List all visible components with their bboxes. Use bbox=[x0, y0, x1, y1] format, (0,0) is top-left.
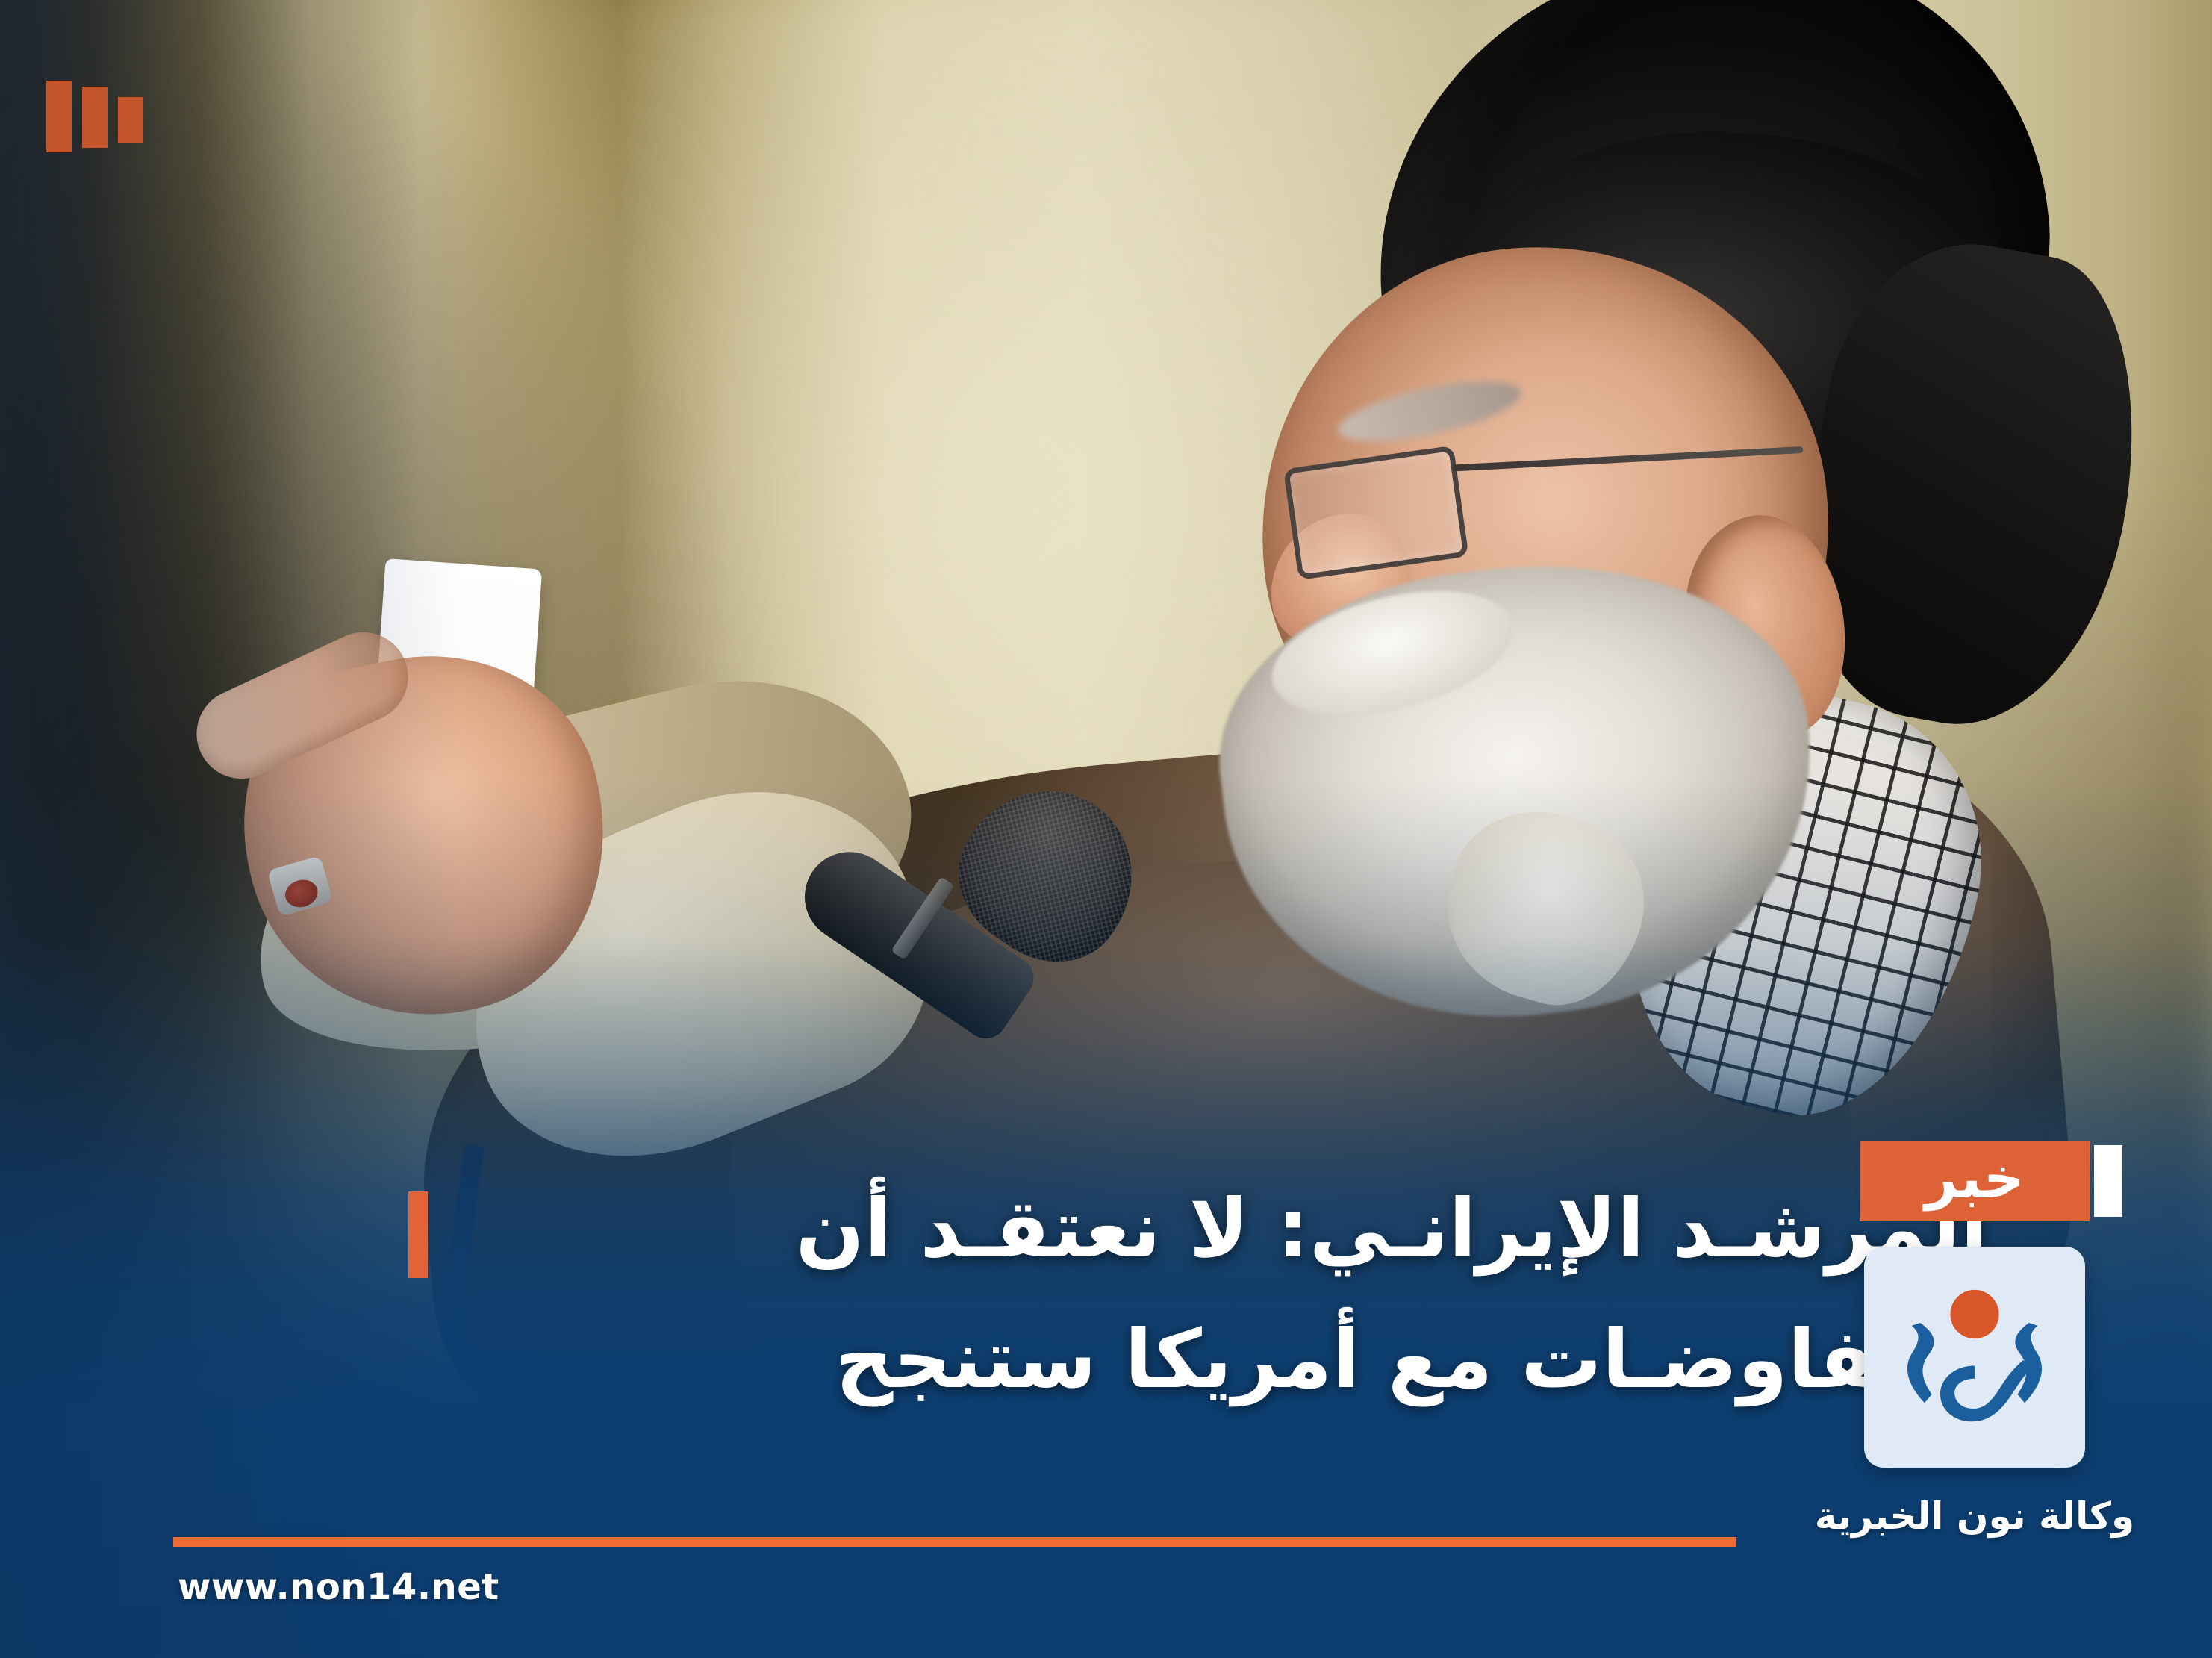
news-badge: خبر bbox=[1860, 1141, 2090, 1221]
headline-accent-bar bbox=[408, 1191, 428, 1278]
three-bars-icon bbox=[46, 81, 143, 152]
headline-text: المرشـد الإيرانـي: لا نعتقـد أن المفاوضـ… bbox=[443, 1165, 1988, 1426]
noon-agency-logo-icon bbox=[1889, 1271, 2060, 1443]
footer-rule bbox=[173, 1537, 1736, 1547]
news-card: المرشـد الإيرانـي: لا نعتقـد أن المفاوضـ… bbox=[0, 0, 2212, 1658]
bar-1 bbox=[46, 81, 72, 152]
agency-name: وكالة نون الخبرية bbox=[1815, 1495, 2134, 1538]
eyeglass-temple bbox=[1453, 446, 1804, 472]
bar-3 bbox=[118, 97, 143, 143]
website-url[interactable]: www.non14.net bbox=[178, 1566, 499, 1608]
bar-2 bbox=[82, 87, 108, 148]
eyeglass-lens bbox=[1283, 446, 1469, 581]
brand-block: خبر وكالة نون الخبرية bbox=[1818, 1141, 2131, 1538]
agency-logo bbox=[1864, 1247, 2085, 1468]
